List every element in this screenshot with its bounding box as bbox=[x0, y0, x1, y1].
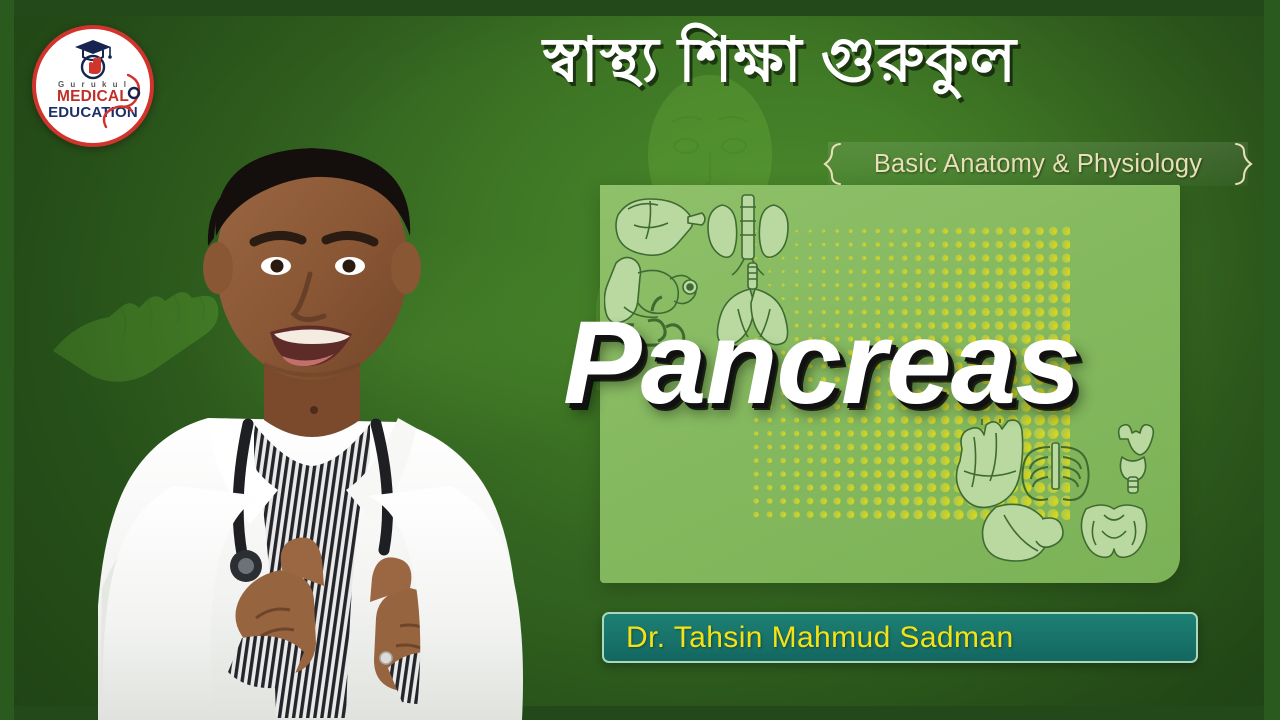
right-edge-band bbox=[1264, 0, 1280, 720]
presenter-name: Dr. Tahsin Mahmud Sadman bbox=[604, 621, 1014, 655]
presenter-name-bar: Dr. Tahsin Mahmud Sadman bbox=[602, 612, 1198, 663]
subtitle-banner: Basic Anatomy & Physiology bbox=[828, 142, 1248, 186]
pelvis-icon bbox=[1081, 505, 1146, 557]
eye-anatomy-icon bbox=[616, 199, 705, 255]
coat-button bbox=[380, 652, 392, 664]
top-edge-band bbox=[0, 0, 1280, 16]
graduation-cap-icon bbox=[72, 38, 114, 80]
thyroid-icon bbox=[1119, 425, 1154, 493]
logo-brand-medical: MEDICAL bbox=[57, 89, 129, 105]
channel-headline: স্বাস্থ্য শিক্ষা গুরুকুল bbox=[430, 26, 1130, 95]
video-thumbnail: Pancreas G u r u k u l MEDICAL EDUCATION bbox=[0, 0, 1280, 720]
left-edge-band bbox=[0, 0, 14, 720]
subtitle-text: Basic Anatomy & Physiology bbox=[828, 142, 1248, 186]
page-title: Pancreas bbox=[563, 304, 1080, 422]
presenter-photo bbox=[58, 118, 618, 720]
